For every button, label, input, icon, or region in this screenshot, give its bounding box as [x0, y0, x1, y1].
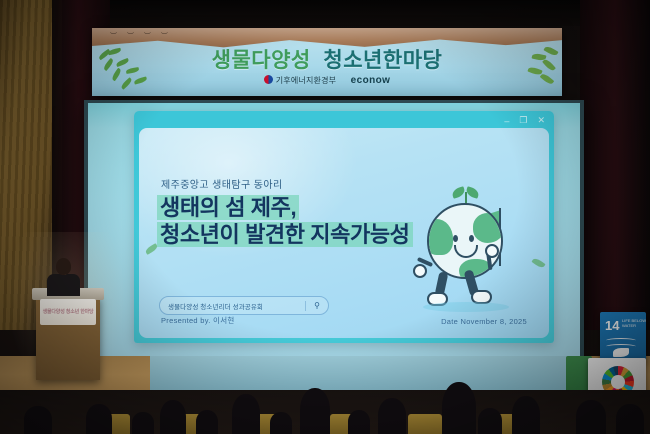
- audience-head: [478, 408, 502, 434]
- audience-head: [132, 412, 154, 434]
- search-icon[interactable]: ⚲: [306, 301, 328, 310]
- audience-head: [24, 406, 52, 434]
- audience-head: [576, 400, 606, 434]
- slide-kicker: 제주중앙고 생태탐구 동아리: [161, 176, 283, 191]
- slide-title-line2: 청소년이 발견한 지속가능성: [157, 222, 413, 247]
- fish-icon: [613, 348, 629, 357]
- podium-sign: 생물다양성 청소년 한마당: [40, 299, 96, 325]
- maximize-icon[interactable]: ❐: [519, 115, 527, 126]
- ministry-logo: 기후에너지환경부: [264, 75, 336, 86]
- birds-icon: ︶ ︶ ︶ ︶: [110, 31, 172, 41]
- banner-title: 생물다양성 청소년한마당: [92, 44, 562, 74]
- close-icon[interactable]: ✕: [537, 115, 545, 126]
- audience-head: [378, 398, 406, 434]
- banner-title-part2: 청소년한마당: [323, 49, 442, 72]
- audience-head: [442, 382, 476, 434]
- banner-logo-row: 기후에너지환경부 econow: [92, 75, 562, 86]
- sprout-leaf-left-icon: [451, 186, 466, 199]
- minimize-icon[interactable]: –: [504, 116, 509, 126]
- mascot-hand-right: [485, 244, 499, 258]
- continent-shape: [473, 213, 503, 243]
- sdg14-cube: 14 LIFE BELOW WATER: [600, 312, 646, 362]
- slide-date-label: Date November 8, 2025: [441, 317, 527, 326]
- taegeuk-icon: [264, 75, 273, 84]
- mascot-hand-left: [413, 264, 427, 278]
- audience-head: [300, 388, 330, 434]
- mascot-smile: [454, 245, 478, 258]
- event-banner: ︶ ︶ ︶ ︶ 생물다양성 청소년한마당 기후에너지환경부: [92, 28, 562, 96]
- slide-title-line1: 생태의 섬 제주,: [157, 195, 299, 220]
- sdg14-title: LIFE BELOW WATER: [622, 319, 646, 328]
- window-controls[interactable]: – ❐ ✕: [504, 115, 545, 126]
- presenter-head: [56, 258, 71, 275]
- presenter-body: [47, 274, 80, 296]
- sprout-leaf-right-icon: [465, 186, 480, 199]
- audience-head: [270, 412, 292, 434]
- search-input[interactable]: 생물다양성 청소년리더 성과공유회: [160, 301, 305, 311]
- mascot-ground-shadow: [423, 302, 509, 312]
- auditorium-scene: ︶ ︶ ︶ ︶ 생물다양성 청소년한마당 기후에너지환경부: [0, 0, 650, 434]
- audience-head: [160, 400, 186, 434]
- slide-canvas: 제주중앙고 생태탐구 동아리 생태의 섬 제주, 청소년이 발견한 지속가능성 …: [139, 128, 549, 338]
- audience-head: [196, 410, 218, 434]
- audience-head: [616, 404, 644, 434]
- audience-head: [232, 394, 260, 434]
- projection-screen: – ❐ ✕ 제주중앙고 생태탐구 동아리 생태의 섬 제주, 청소년이 발견한 …: [88, 103, 580, 356]
- audience-head: [512, 396, 540, 434]
- mascot-eye-right: [469, 235, 474, 242]
- slide-title: 생태의 섬 제주, 청소년이 발견한 지속가능성: [157, 194, 413, 249]
- continent-shape: [427, 219, 453, 255]
- sdg14-number: 14: [605, 318, 619, 333]
- leaf-decoration-icon: [531, 257, 545, 269]
- econow-logo: econow: [351, 75, 391, 86]
- podium-sign-text: 생물다양성 청소년 한마당: [43, 309, 94, 315]
- search-bar[interactable]: 생물다양성 청소년리더 성과공유회 ⚲: [159, 296, 329, 315]
- stage-curtain-right: [580, 0, 650, 330]
- audience-head: [86, 404, 112, 434]
- earth-mascot-icon: [413, 186, 521, 314]
- presentation-window: – ❐ ✕ 제주중앙고 생태탐구 동아리 생태의 섬 제주, 청소년이 발견한 …: [134, 111, 554, 343]
- mascot-eye-left: [453, 235, 458, 242]
- banner-title-part1: 생물다양성: [212, 49, 311, 72]
- audience-head: [348, 410, 370, 434]
- presented-by-label: Presented by. 이서현: [161, 315, 235, 326]
- ministry-logo-label: 기후에너지환경부: [276, 76, 336, 85]
